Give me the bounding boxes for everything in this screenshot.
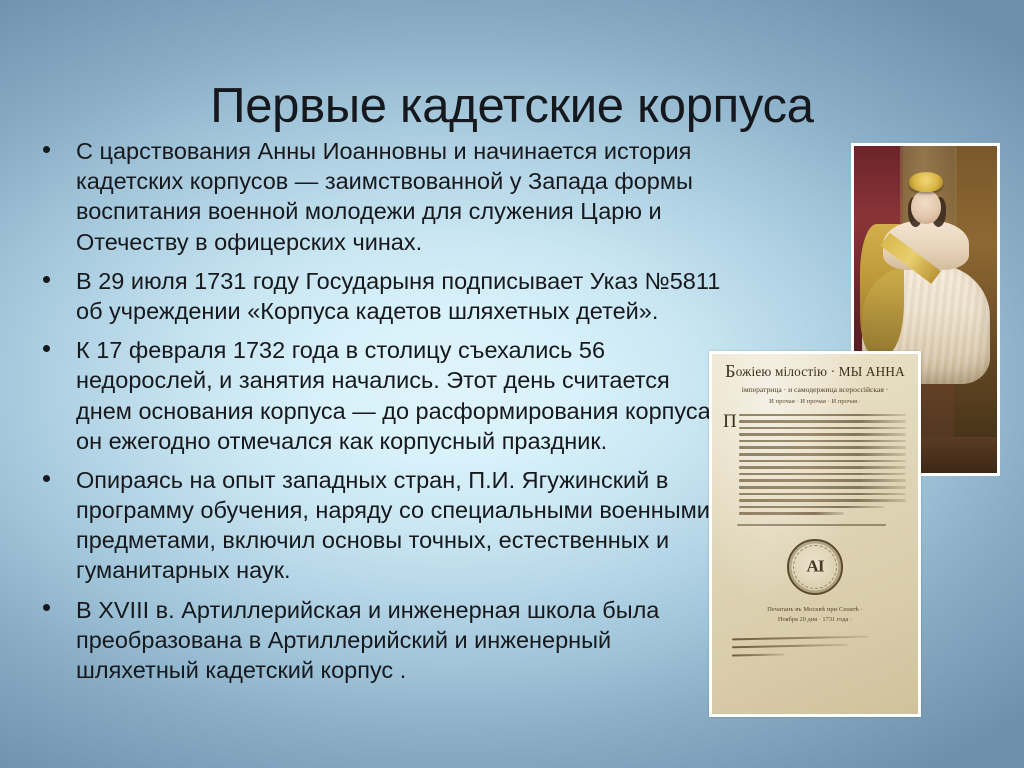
list-item: С царствования Анны Иоанновны и начинает… xyxy=(34,136,724,257)
bullet-list: С царствования Анны Иоанновны и начинает… xyxy=(34,136,724,694)
decree-document-1731: Божіею мілостію · МЫ АННА імператрица · … xyxy=(709,351,921,717)
decree-text-line xyxy=(739,453,906,456)
decree-text-line xyxy=(739,473,906,476)
slide-canvas: Первые кадетские корпуса С царствования … xyxy=(0,0,1024,768)
decree-text-line xyxy=(739,466,906,469)
bullet-dot-icon xyxy=(43,604,50,611)
decree-text-line xyxy=(739,486,906,489)
decree-subtitle-2: И прочая · И прочая · И прочая · xyxy=(722,398,908,405)
decree-text-line xyxy=(739,499,906,502)
portrait-head xyxy=(911,190,941,224)
decree-heading: Божіею мілостію · МЫ АННА xyxy=(722,365,908,380)
decree-handwriting xyxy=(722,637,908,656)
decree-text-line xyxy=(739,420,906,423)
decree-text-line xyxy=(739,506,884,509)
handwriting-line xyxy=(732,653,785,656)
decree-text-line xyxy=(739,460,906,463)
decree-text-line xyxy=(739,493,906,496)
decree-heading-dropcap: Б xyxy=(725,361,736,381)
decree-text-line xyxy=(739,440,906,443)
bullet-dot-icon xyxy=(43,276,50,283)
crown-icon xyxy=(909,172,943,192)
decree-text-line xyxy=(739,433,906,436)
decree-note-line xyxy=(737,524,886,526)
decree-heading-rest: ожіею мілостію · МЫ АННА xyxy=(736,364,905,379)
page-title: Первые кадетские корпуса xyxy=(0,81,1024,132)
bullet-dot-icon xyxy=(43,345,50,352)
decree-body-text: П xyxy=(722,414,908,516)
decree-initial-letter: П xyxy=(723,413,737,430)
decree-subtitle-1: імператрица · и самодержица всероссійска… xyxy=(722,385,908,394)
decree-footer-date: Ноября 20 дня · 1731 года · xyxy=(722,616,908,623)
handwriting-line xyxy=(732,636,869,641)
handwriting-line xyxy=(732,644,848,649)
list-item: В 29 июля 1731 году Государыня подписыва… xyxy=(34,266,724,326)
decree-text-line xyxy=(739,414,906,417)
decree-text-line xyxy=(739,427,906,430)
list-item: Опираясь на опыт западных стран, П.И. Яг… xyxy=(34,465,724,586)
bullet-text: С царствования Анны Иоанновны и начинает… xyxy=(76,136,724,257)
decree-paper: Божіею мілостію · МЫ АННА імператрица · … xyxy=(712,354,918,714)
bullet-text: К 17 февраля 1732 года в столицу съехали… xyxy=(76,335,724,456)
decree-text-line xyxy=(739,446,906,449)
list-item: В XVIII в. Артиллерийская и инженерная ш… xyxy=(34,595,724,686)
decree-text-line xyxy=(739,479,906,482)
bullet-dot-icon xyxy=(43,146,50,153)
bullet-dot-icon xyxy=(43,475,50,482)
list-item: К 17 февраля 1732 года в столицу съехали… xyxy=(34,335,724,456)
bullet-text: В 29 июля 1731 году Государыня подписыва… xyxy=(76,266,724,326)
decree-seal-icon: АI xyxy=(787,539,843,595)
bullet-text: В XVIII в. Артиллерийская и инженерная ш… xyxy=(76,595,724,686)
decree-footer-place: Печатанъ въ Москвѣ при Сенатѣ · xyxy=(722,606,908,613)
seal-monogram: АI xyxy=(789,557,841,577)
bullet-text: Опираясь на опыт западных стран, П.И. Яг… xyxy=(76,465,724,586)
decree-text-line xyxy=(739,512,844,515)
